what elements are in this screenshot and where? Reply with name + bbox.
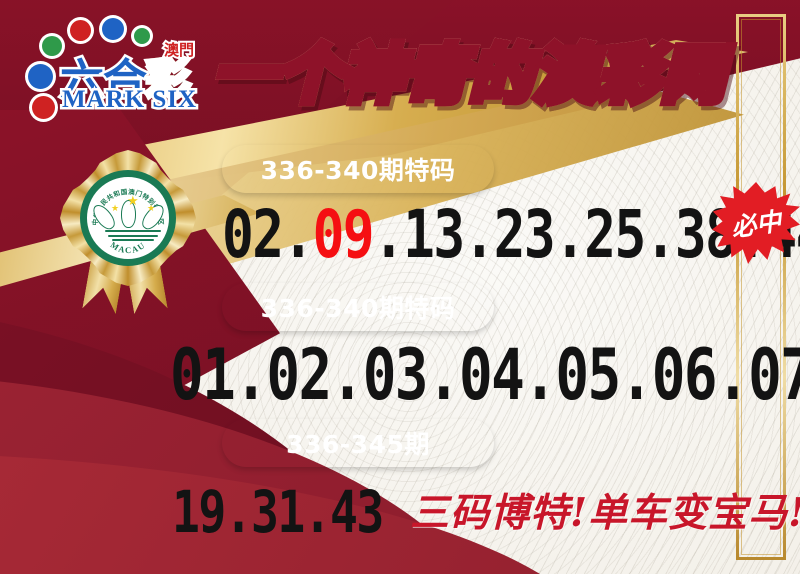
- period-label-pill-1[interactable]: 336-340期特码: [222, 145, 494, 193]
- logo-dot-2: [102, 18, 124, 40]
- number-row-1-prefix: 02.: [222, 196, 313, 273]
- seal-star-left: ★: [111, 204, 119, 213]
- number-row-2: 01.02.03.04.05.06.07.08.09: [170, 334, 800, 416]
- logo-dot-6: [32, 96, 55, 119]
- number-row-1: 02.09.13.23.25.38.44.45: [222, 196, 800, 273]
- seal-star-right: ★: [147, 204, 155, 213]
- logo-dot-3: [134, 28, 150, 44]
- macau-government-seal: 中华人民共和国澳门特别行政区 MACAU ★ ★ ★: [52, 150, 204, 325]
- seal-water-lines: [105, 230, 165, 243]
- page-title: 一个神奇的澳彩网: [214, 24, 726, 114]
- period-label-text-2: 336-340期特码: [261, 289, 456, 325]
- period-label-text-1: 336-340期特码: [261, 151, 456, 187]
- seal-wave-2: [108, 235, 158, 237]
- logo-dot-4: [42, 36, 62, 56]
- logo-english-name: MARK SIX: [62, 86, 197, 114]
- logo-dot-5: [28, 64, 53, 89]
- guarantee-badge-label: 必中: [729, 202, 784, 245]
- number-row-3: 19.31.43: [172, 478, 383, 546]
- logo-region-label: 澳門: [164, 39, 194, 60]
- period-label-text-3: 336-345期: [286, 425, 430, 461]
- macau-emblem-icon: 中华人民共和国澳门特别行政区 MACAU ★ ★ ★: [80, 170, 176, 266]
- mark-six-logo[interactable]: 六合彩 澳門 MARK SIX: [22, 18, 212, 114]
- period-label-pill-2[interactable]: 336-340期特码: [222, 283, 494, 331]
- number-row-3-prefix: 19.31.43: [172, 478, 383, 546]
- seal-star-center: ★: [127, 194, 139, 207]
- seal-wave-3: [112, 239, 154, 241]
- number-row-1-highlight: 09: [313, 196, 373, 273]
- promo-slogan: 三码博特!单车变宝马!: [410, 482, 800, 538]
- lottery-promo-banner: 六合彩 澳門 MARK SIX 一个神奇的澳彩网 中华人民共和国澳门特别行政区 …: [0, 0, 800, 574]
- gold-frame-inner-line: [741, 19, 781, 555]
- period-label-pill-3[interactable]: 336-345期: [222, 419, 494, 467]
- number-row-2-prefix: 01.02.03.04.05.06.07.: [170, 334, 800, 416]
- seal-wave-1: [105, 230, 161, 232]
- logo-dot-1: [70, 20, 91, 41]
